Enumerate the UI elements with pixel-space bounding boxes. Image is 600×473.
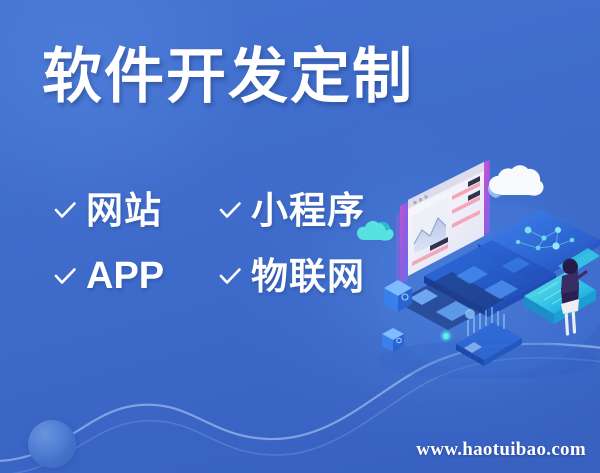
feature-label: 物联网 bbox=[251, 258, 365, 295]
check-icon bbox=[217, 263, 243, 289]
promo-banner: 软件开发定制 网站 小程序 APP 物联网 bbox=[0, 0, 600, 473]
feature-item-app[interactable]: APP bbox=[52, 249, 217, 303]
check-icon bbox=[52, 263, 78, 289]
check-icon bbox=[52, 197, 78, 223]
feature-item-miniprogram[interactable]: 小程序 bbox=[217, 183, 412, 237]
feature-label: 网站 bbox=[86, 192, 162, 229]
sphere-decoration bbox=[28, 420, 76, 468]
page-title: 软件开发定制 bbox=[42, 47, 414, 107]
watermark-url: www.haotuibao.com bbox=[416, 439, 586, 461]
feature-label: 小程序 bbox=[251, 192, 365, 229]
feature-item-website[interactable]: 网站 bbox=[52, 183, 217, 237]
check-icon bbox=[217, 197, 243, 223]
feature-label: APP bbox=[86, 257, 164, 295]
feature-item-iot[interactable]: 物联网 bbox=[217, 249, 412, 303]
feature-list: 网站 小程序 APP 物联网 bbox=[52, 183, 422, 303]
